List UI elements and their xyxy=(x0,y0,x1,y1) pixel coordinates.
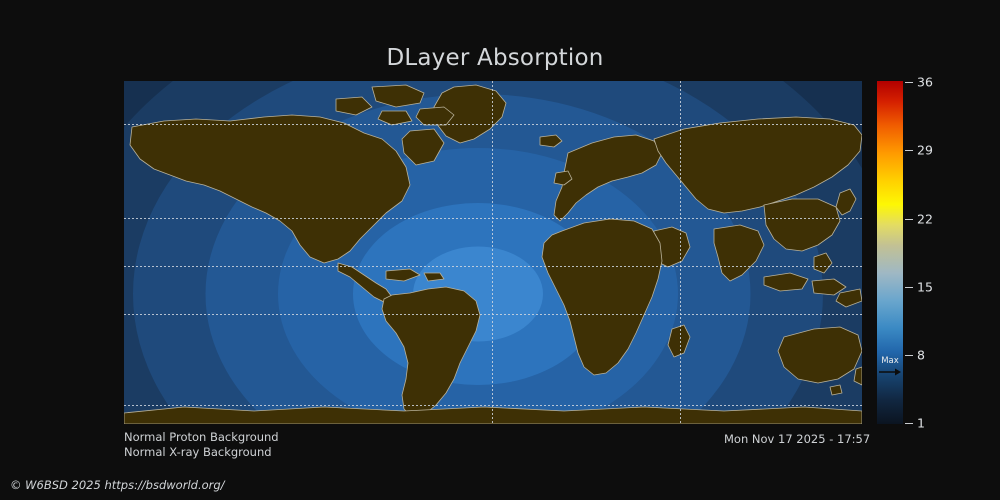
status-block: Normal Proton Background Normal X-ray Ba… xyxy=(124,430,279,460)
landmass-new-zealand xyxy=(854,367,862,385)
colorbar-max-arrow-icon xyxy=(878,368,902,376)
landmass-russia xyxy=(654,117,862,213)
landmass-central-america xyxy=(338,263,392,303)
landmass-tasmania xyxy=(830,385,842,395)
colorbar-label-1: 1 xyxy=(917,416,925,431)
landmass-philippines xyxy=(814,253,832,273)
copyright-footer: © W6BSD 2025 https://bsdworld.org/ xyxy=(10,478,225,492)
colorbar-tick-8 xyxy=(905,355,913,356)
landmass-arctic-islands-a xyxy=(372,85,424,107)
landmass-antarctica xyxy=(124,407,862,424)
landmass-iceland xyxy=(540,135,562,147)
landmass-madagascar xyxy=(668,325,690,357)
landmass-arctic-islands-d xyxy=(378,111,412,125)
colorbar-max-marker-label: Max xyxy=(877,357,903,366)
status-proton-background: Normal Proton Background xyxy=(124,430,279,445)
colorbar-axis-title: Affected Frequency (MHz) xyxy=(925,81,1000,424)
colorbar-tick-1 xyxy=(905,423,913,424)
landmass-africa xyxy=(542,219,662,375)
landmass-australia xyxy=(778,327,862,383)
landmass-east-asia xyxy=(764,199,840,251)
landmass-baffin xyxy=(402,129,444,165)
colorbar-tick-15 xyxy=(905,287,913,288)
figure-canvas: DLayer Absorption xyxy=(0,0,1000,500)
colorbar-label-8: 8 xyxy=(917,348,925,363)
colorbar-tick-29 xyxy=(905,150,913,151)
landmass-caribbean-b xyxy=(424,273,444,281)
world-map xyxy=(124,81,862,424)
page-title: DLayer Absorption xyxy=(0,45,990,71)
colorbar-tick-36 xyxy=(905,82,913,83)
colorbar-tick-22 xyxy=(905,219,913,220)
coastline-layer xyxy=(124,81,862,424)
landmass-indonesia-a xyxy=(764,273,808,291)
landmass-japan xyxy=(836,189,856,215)
timestamp: Mon Nov 17 2025 - 17:57 xyxy=(724,432,870,446)
landmass-india xyxy=(714,225,764,281)
status-xray-background: Normal X-ray Background xyxy=(124,445,279,460)
landmass-caribbean-a xyxy=(386,269,420,281)
landmass-south-america xyxy=(382,287,480,417)
landmass-arctic-islands-c xyxy=(336,97,372,115)
landmass-north-america xyxy=(130,115,410,263)
landmass-new-guinea xyxy=(836,289,862,307)
